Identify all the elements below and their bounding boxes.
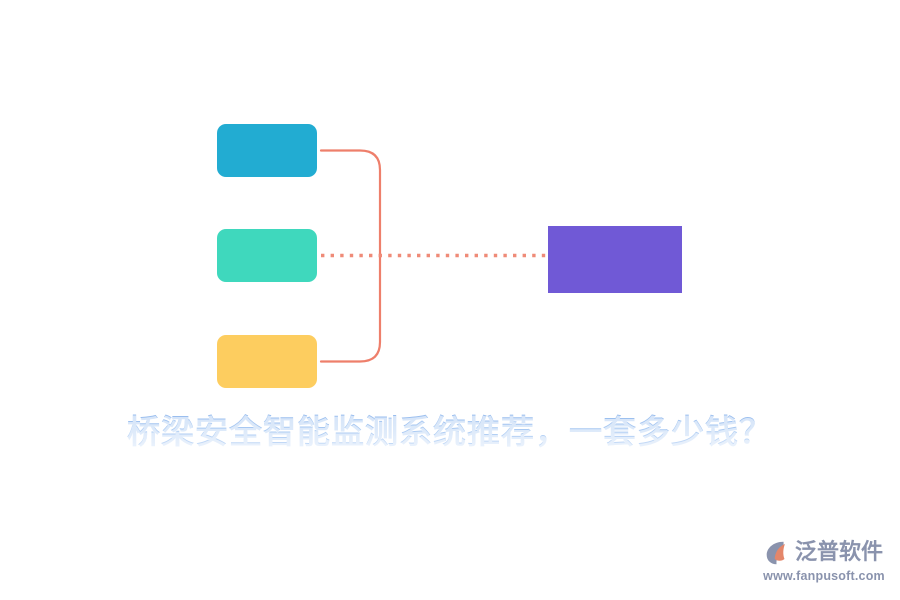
watermark-brand-text: 泛普软件: [795, 537, 883, 567]
connector-layer: [0, 0, 900, 410]
watermark-url-text: www.fanpusoft.com: [762, 568, 886, 584]
diagram-node-purple[interactable]: [548, 226, 682, 293]
page-title: 桥梁安全智能监测系统推荐，一套多少钱？: [0, 407, 900, 457]
fanpu-logo-icon: [762, 537, 792, 567]
diagram: [0, 0, 900, 410]
connector-bracket: [321, 151, 380, 362]
diagram-node-blue[interactable]: [217, 124, 317, 177]
diagram-node-yellow[interactable]: [217, 335, 317, 388]
diagram-node-green[interactable]: [217, 229, 317, 282]
watermark-brand-row: 泛普软件: [762, 536, 886, 568]
watermark: 泛普软件 www.fanpusoft.com: [762, 536, 886, 588]
screenshot-canvas: 桥梁安全智能监测系统推荐，一套多少钱？ 泛普软件 www.fanpusoft.c…: [0, 0, 900, 600]
